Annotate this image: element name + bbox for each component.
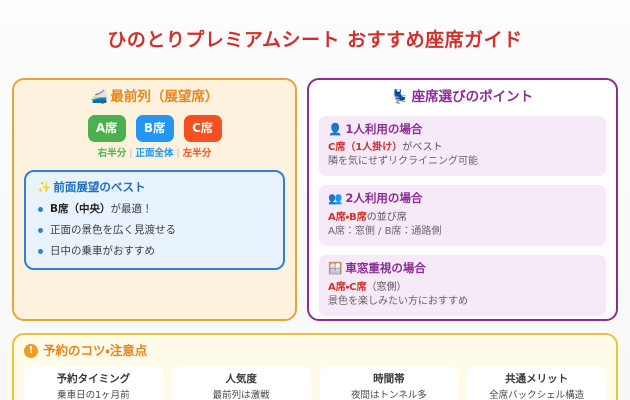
point-item-pair-title-row: 👥2人利用の場合 <box>328 192 597 206</box>
single-person-icon: 👤 <box>328 122 342 136</box>
point-item-window-line1: A席・C席（窓側） <box>328 281 597 294</box>
point-item-single-title: 1人利用の場合 <box>345 122 422 136</box>
point-item-window-title: 車窓重視の場合 <box>345 261 426 275</box>
front-row-panel: 🚄最前列（展望席） A席 B席 C席 右半分|正面全体|左半分 ✨前面展望のベス… <box>12 78 297 321</box>
guide-page: ひのとりプレミアムシート おすすめ座席ガイド 🚄最前列（展望席） A席 B席 C… <box>0 0 630 400</box>
point-item-pair-line2: A席：窓側 / B席：通路側 <box>328 225 597 238</box>
tip-card-grid: 予約タイミング 乗車日の1ヶ月前 10時から受付開始 人気度 最前列は激戦 ただ… <box>24 367 606 400</box>
seat-sub-separator-2: | <box>177 148 180 159</box>
tip-card-timeslot: 時間帯 夜間はトンネル多 日中がおすすめ <box>320 367 459 400</box>
point-item-single: 👤1人利用の場合 C席（1人掛け）がベスト 隣を気にせずリクライニング可能 <box>319 116 606 177</box>
reservation-tips-panel: !予約のコツ・注意点 予約タイミング 乗車日の1ヶ月前 10時から受付開始 人気… <box>12 333 618 400</box>
page-title: ひのとりプレミアムシート おすすめ座席ガイド <box>0 13 630 51</box>
front-row-panel-header: 🚄最前列（展望席） <box>24 89 285 105</box>
seat-sub-b: 正面全体 <box>135 148 173 159</box>
point-item-window-line1-rest: （窓側） <box>366 282 406 293</box>
seat-badge-c[interactable]: C席 <box>184 115 222 142</box>
best-view-title: 前面展望のベスト <box>53 180 145 194</box>
tip-card-timing: 予約タイミング 乗車日の1ヶ月前 10時から受付開始 <box>24 367 163 400</box>
tip-card-timeslot-title: 時間帯 <box>325 373 454 386</box>
sparkles-icon: ✨ <box>37 180 51 194</box>
tip-card-popularity-line1: 最前列は激戦 <box>177 390 306 400</box>
best-view-header: ✨前面展望のベスト <box>37 181 272 195</box>
point-item-single-line1: C席（1人掛け）がベスト <box>328 141 597 154</box>
reservation-tips-title: 予約のコツ・注意点 <box>43 343 147 358</box>
seat-sub-row: 右半分|正面全体|左半分 <box>24 148 285 159</box>
point-item-window: 🪟車窓重視の場合 A席・C席（窓側） 景色を楽しみたい方におすすめ <box>319 255 606 316</box>
tip-card-popularity: 人気度 最前列は激戦 ただし１２号車両以上 <box>172 367 311 400</box>
seat-choice-panel-header: 💺座席選びのポイント <box>319 89 606 105</box>
point-item-window-line2: 景色を楽しみたい方におすすめ <box>328 295 597 308</box>
seat-choice-panel-title: 座席選びのポイント <box>412 89 534 105</box>
best-view-box: ✨前面展望のベスト B席（中央）が最適！ 正面の景色を広く見渡せる 日中の乗車が… <box>24 170 285 270</box>
point-item-single-line2: 隣を気にせずリクライニング可能 <box>328 155 597 168</box>
main-columns: 🚄最前列（展望席） A席 B席 C席 右半分|正面全体|左半分 ✨前面展望のベス… <box>0 63 630 321</box>
point-item-pair-line1-rest: の並び席 <box>367 212 407 223</box>
exclamation-circle-icon: ! <box>24 344 38 358</box>
seat-sub-c: 左半分 <box>183 148 212 159</box>
point-item-pair-title: 2人利用の場合 <box>345 191 422 205</box>
right-column: 💺座席選びのポイント 👤1人利用の場合 C席（1人掛け）がベスト 隣を気にせずリ… <box>307 78 618 321</box>
seat-badge-a[interactable]: A席 <box>88 115 126 142</box>
seat-badge-row: A席 B席 C席 <box>24 115 285 142</box>
seat-sub-a: 右半分 <box>98 148 127 159</box>
point-item-single-line1-strong: C席（1人掛け） <box>328 142 402 153</box>
tip-card-timing-title: 予約タイミング <box>29 373 158 386</box>
bullet-train-icon: 🚄 <box>91 89 108 105</box>
point-item-pair: 👥2人利用の場合 A席・B席の並び席 A席：窓側 / B席：通路側 <box>319 185 606 246</box>
point-item-single-title-row: 👤1人利用の場合 <box>328 123 597 137</box>
best-view-item-1-rest: 正面の景色を広く見渡せる <box>50 224 176 236</box>
reservation-tips-header: !予約のコツ・注意点 <box>24 343 606 358</box>
tip-card-timing-line1: 乗車日の1ヶ月前 <box>29 390 158 400</box>
point-item-window-line1-strong: A席・C席 <box>328 282 366 293</box>
seat-choice-panel: 💺座席選びのポイント 👤1人利用の場合 C席（1人掛け）がベスト 隣を気にせずリ… <box>307 78 618 321</box>
point-item-window-title-row: 🪟車窓重視の場合 <box>328 262 597 276</box>
front-row-panel-title: 最前列（展望席） <box>110 89 218 105</box>
tip-card-timeslot-line1: 夜間はトンネル多 <box>325 390 454 400</box>
best-view-list: B席（中央）が最適！ 正面の景色を広く見渡せる 日中の乗車がおすすめ <box>37 203 272 258</box>
point-item-single-line1-rest: がベスト <box>402 142 442 153</box>
left-column: 🚄最前列（展望席） A席 B席 C席 右半分|正面全体|左半分 ✨前面展望のベス… <box>12 78 297 321</box>
list-item: B席（中央）が最適！ <box>37 203 272 216</box>
two-people-icon: 👥 <box>328 191 342 205</box>
point-item-pair-line1: A席・B席の並び席 <box>328 211 597 224</box>
point-item-pair-line1-strong: A席・B席 <box>328 212 367 223</box>
best-view-item-0-rest: が最適！ <box>111 203 153 215</box>
tip-card-benefits-title: 共通メリット <box>472 373 601 386</box>
list-item: 日中の乗車がおすすめ <box>37 245 272 258</box>
best-view-item-0-strong: B席（中央） <box>50 203 111 215</box>
best-view-item-2-rest: 日中の乗車がおすすめ <box>50 245 155 257</box>
window-icon: 🪟 <box>328 261 342 275</box>
seat-sub-separator-1: | <box>129 148 132 159</box>
seat-badge-b[interactable]: B席 <box>136 115 174 142</box>
tip-card-benefits-line1: 全席バックシェル構造 <box>472 390 601 400</box>
seat-icon: 💺 <box>392 89 409 105</box>
tip-card-benefits: 共通メリット 全席バックシェル構造 無料ドリンクサービス <box>467 367 606 400</box>
tip-card-popularity-title: 人気度 <box>177 373 306 386</box>
list-item: 正面の景色を広く見渡せる <box>37 224 272 237</box>
